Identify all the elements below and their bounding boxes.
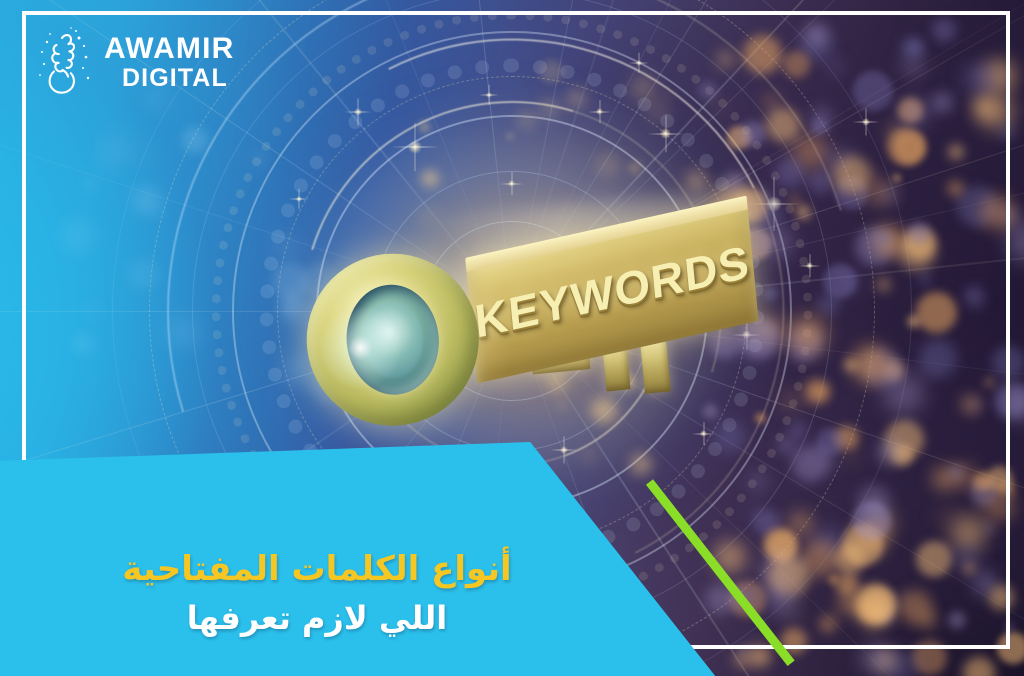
keywords-label: KEYWORDS bbox=[469, 233, 755, 349]
banner-canvas: KEYWORDS أنواع الكلمات المفتاحية اللي لا… bbox=[0, 0, 1024, 676]
gold-3d-key-icon: KEYWORDS bbox=[291, 196, 779, 455]
key-head-lens-flare bbox=[308, 296, 413, 401]
key-head bbox=[299, 246, 487, 434]
brand-name-primary: AWAMIR bbox=[104, 34, 235, 64]
headline-line-1: أنواع الكلمات المفتاحية bbox=[0, 547, 634, 593]
brand-wordmark: AWAMIR DIGITAL bbox=[104, 34, 235, 91]
brand-name-secondary: DIGITAL bbox=[104, 66, 235, 91]
headline-line-2: اللي لازم تعرفها bbox=[0, 597, 634, 640]
brand-logo[interactable]: AWAMIR DIGITAL bbox=[38, 26, 235, 98]
snapping-hand-sparkle-icon bbox=[38, 26, 92, 98]
headline-block: أنواع الكلمات المفتاحية اللي لازم تعرفها bbox=[0, 547, 634, 640]
